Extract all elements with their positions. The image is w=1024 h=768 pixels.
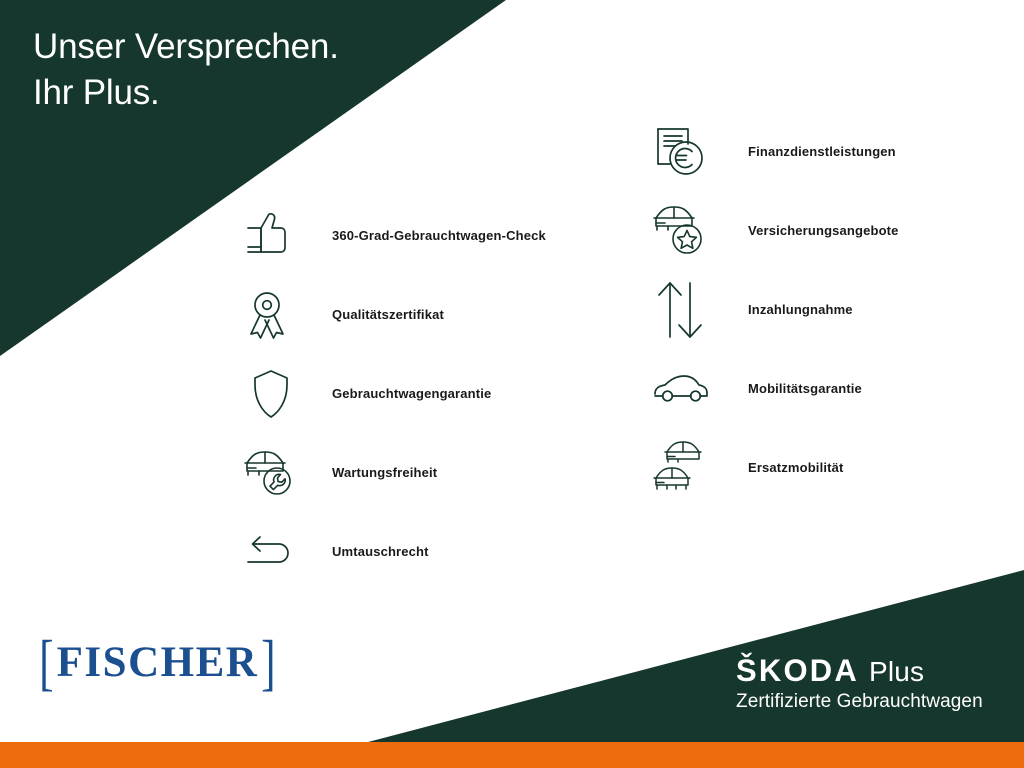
car-star-icon — [648, 198, 714, 264]
up-down-arrows-icon — [648, 277, 714, 343]
feature-label: Inzahlungnahme — [748, 302, 853, 317]
feature-item-warranty: Gebrauchtwagengarantie — [238, 354, 546, 433]
promo-banner: Unser Versprechen. Ihr Plus. 360-Grad-Ge… — [0, 0, 1024, 768]
feature-item-insurance-offers: Versicherungsangebote — [648, 191, 899, 270]
plus-wordmark: Plus — [869, 656, 924, 688]
dealer-logo-bracket-right: ] — [261, 638, 275, 688]
car-wrench-icon — [238, 440, 304, 506]
page-title: Unser Versprechen. Ihr Plus. — [33, 24, 463, 116]
feature-label: Wartungsfreiheit — [332, 465, 437, 480]
dealer-logo-bracket-left: [ — [39, 638, 53, 688]
feature-label: 360-Grad-Gebrauchtwagen-Check — [332, 228, 546, 243]
document-euro-icon — [648, 119, 714, 185]
feature-label: Mobilitätsgarantie — [748, 381, 862, 396]
feature-label: Gebrauchtwagengarantie — [332, 386, 491, 401]
feature-item-exchange-right: Umtauschrecht — [238, 512, 546, 591]
skoda-plus-logo: ŠKODA Plus Zertifizierte Gebrauchtwagen — [736, 655, 983, 713]
two-cars-icon — [648, 435, 714, 501]
feature-item-trade-in: Inzahlungnahme — [648, 270, 899, 349]
feature-label: Versicherungsangebote — [748, 223, 899, 238]
feature-item-mobility-guarantee: Mobilitätsgarantie — [648, 349, 899, 428]
feature-item-replacement-mobility: Ersatzmobilität — [648, 428, 899, 507]
skoda-plus-tagline: Zertifizierte Gebrauchtwagen — [736, 690, 983, 713]
feature-column-right: Finanzdienstleistungen Versicherungsange… — [648, 112, 899, 507]
skoda-wordmark: ŠKODA — [736, 655, 859, 688]
feature-column-left: 360-Grad-Gebrauchtwagen-Check Qualitätsz… — [238, 196, 546, 591]
dealer-logo-name: FISCHER — [57, 638, 259, 688]
car-side-icon — [648, 356, 714, 422]
skoda-plus-wordmark: ŠKODA Plus — [736, 655, 983, 688]
headline-line-2: Ihr Plus. — [33, 70, 463, 116]
thumbs-up-icon — [238, 203, 304, 269]
return-arrow-icon — [238, 519, 304, 585]
orange-footer-bar — [0, 742, 1024, 768]
feature-item-maintenance: Wartungsfreiheit — [238, 433, 546, 512]
feature-item-quality-certificate: Qualitätszertifikat — [238, 275, 546, 354]
feature-label: Finanzdienstleistungen — [748, 144, 896, 159]
feature-label: Umtauschrecht — [332, 544, 429, 559]
dealer-logo: [ FISCHER ] — [36, 638, 279, 688]
feature-label: Ersatzmobilität — [748, 460, 843, 475]
shield-icon — [238, 361, 304, 427]
rosette-medal-icon — [238, 282, 304, 348]
feature-item-financial-services: Finanzdienstleistungen — [648, 112, 899, 191]
feature-item-360-check: 360-Grad-Gebrauchtwagen-Check — [238, 196, 546, 275]
headline-line-1: Unser Versprechen. — [33, 24, 463, 70]
feature-label: Qualitätszertifikat — [332, 307, 444, 322]
